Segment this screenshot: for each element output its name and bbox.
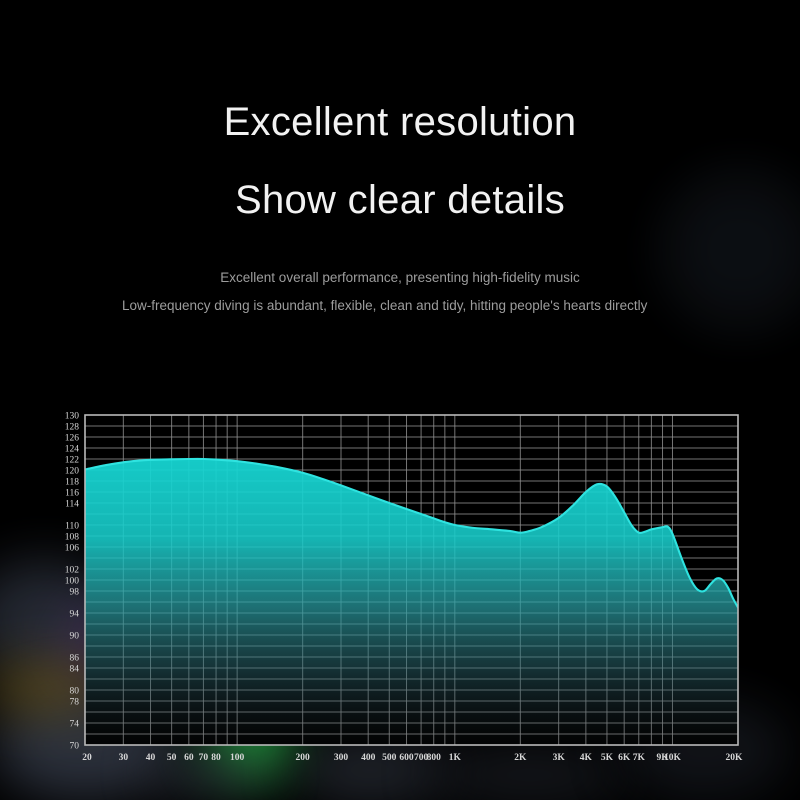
svg-text:108: 108 [65, 532, 80, 542]
svg-text:10K: 10K [664, 753, 682, 763]
svg-text:94: 94 [70, 609, 80, 619]
svg-text:84: 84 [70, 664, 80, 674]
svg-text:3K: 3K [553, 753, 566, 763]
svg-text:5K: 5K [601, 753, 614, 763]
svg-text:6K: 6K [618, 753, 631, 763]
svg-text:400: 400 [361, 753, 376, 763]
svg-text:2K: 2K [514, 753, 527, 763]
svg-text:102: 102 [65, 565, 80, 575]
svg-text:7K: 7K [633, 753, 646, 763]
y-axis-labels: 1301281261241221201181161141101081061021… [65, 411, 80, 751]
svg-text:122: 122 [65, 455, 80, 465]
svg-text:78: 78 [70, 697, 80, 707]
svg-text:100: 100 [65, 576, 80, 586]
svg-text:40: 40 [146, 753, 156, 763]
svg-text:70: 70 [199, 753, 209, 763]
svg-text:60: 60 [184, 753, 194, 763]
svg-text:120: 120 [65, 466, 80, 476]
svg-text:70: 70 [70, 741, 80, 751]
svg-text:124: 124 [65, 444, 80, 454]
svg-text:20K: 20K [726, 753, 744, 763]
subtitle-line1: Excellent overall performance, presentin… [0, 270, 800, 285]
svg-text:126: 126 [65, 433, 80, 443]
page-title-line1: Excellent resolution [0, 100, 800, 145]
subtitle-line2: Low-frequency diving is abundant, flexib… [122, 296, 682, 315]
svg-text:1K: 1K [449, 753, 462, 763]
svg-text:300: 300 [334, 753, 349, 763]
svg-text:50: 50 [167, 753, 177, 763]
svg-text:80: 80 [211, 753, 221, 763]
svg-text:600: 600 [399, 753, 414, 763]
svg-text:110: 110 [65, 521, 79, 531]
x-axis-labels: 203040506070801002003004005006007008001K… [82, 753, 743, 763]
svg-text:118: 118 [65, 477, 79, 487]
svg-text:116: 116 [65, 488, 79, 498]
svg-text:4K: 4K [580, 753, 593, 763]
svg-text:200: 200 [296, 753, 311, 763]
svg-text:80: 80 [70, 686, 80, 696]
svg-text:128: 128 [65, 422, 80, 432]
svg-text:114: 114 [65, 499, 79, 509]
svg-text:30: 30 [119, 753, 129, 763]
svg-text:800: 800 [427, 753, 442, 763]
svg-text:98: 98 [70, 587, 80, 597]
svg-text:100: 100 [230, 753, 245, 763]
svg-text:106: 106 [65, 543, 80, 553]
svg-text:90: 90 [70, 631, 80, 641]
svg-text:500: 500 [382, 753, 397, 763]
svg-text:74: 74 [70, 719, 80, 729]
svg-text:130: 130 [65, 411, 80, 421]
page-title-line2: Show clear details [0, 178, 800, 223]
svg-text:20: 20 [82, 753, 92, 763]
svg-text:86: 86 [70, 653, 80, 663]
